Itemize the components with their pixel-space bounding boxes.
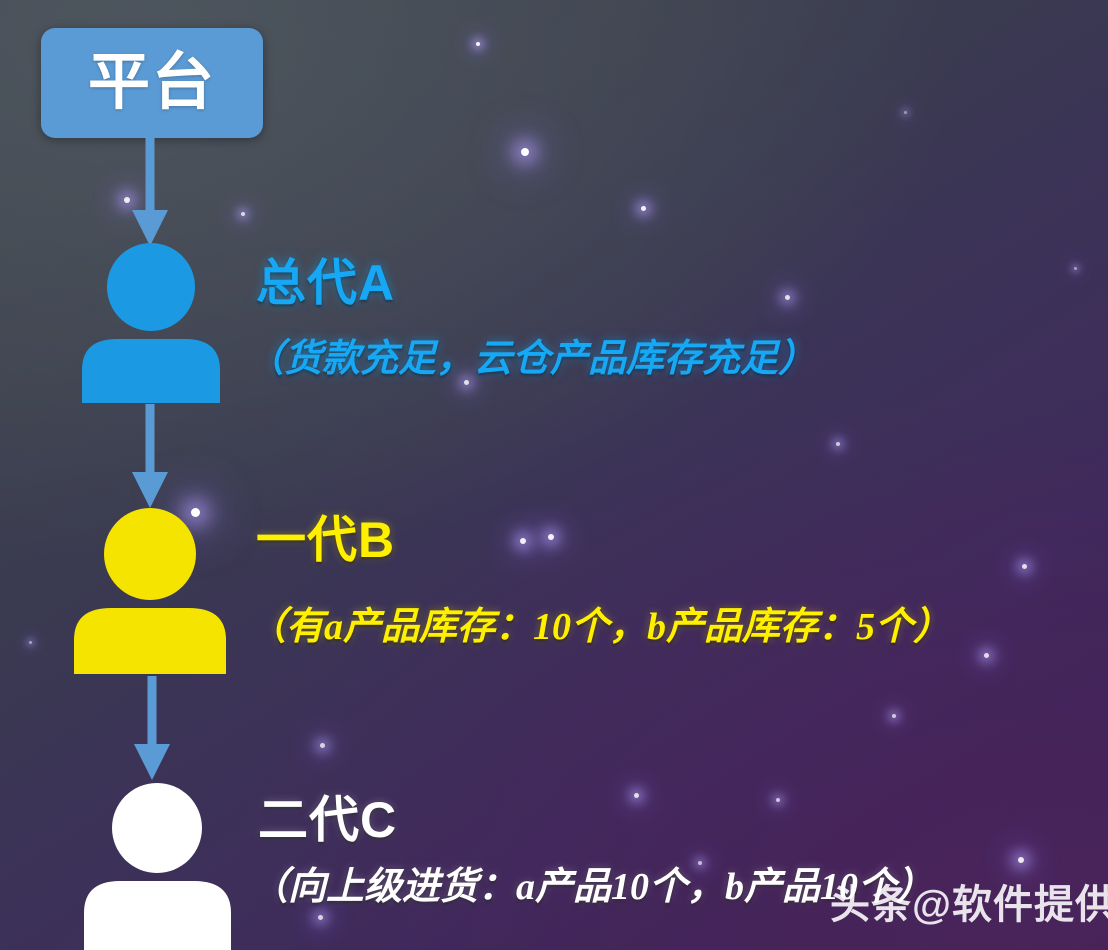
star-dot — [698, 861, 702, 865]
star-dot — [1018, 857, 1024, 863]
node-detail-agent-c: （向上级进货：a产品10个，b产品10个） — [250, 868, 934, 906]
star-dot — [892, 714, 896, 718]
node-detail-agent-a: （货款充足，云仓产品库存充足） — [246, 340, 816, 378]
star-dot — [1022, 564, 1027, 569]
star-dot — [776, 798, 780, 802]
star-dot — [241, 212, 245, 216]
node-detail-agent-b: （有a产品库存：10个，b产品库存：5个） — [248, 608, 951, 646]
platform-box[interactable]: 平台 — [41, 28, 263, 138]
star-dot — [641, 206, 646, 211]
diagram-canvas: 平台 总代A （货款充足，云仓产品库存充足） 一代B （有a产品库存：10个，b… — [0, 0, 1108, 950]
star-dot — [548, 534, 554, 540]
star-dot — [904, 111, 907, 114]
platform-label: 平台 — [88, 52, 216, 114]
node-title-agent-b: 一代B — [256, 515, 395, 565]
star-dot — [318, 915, 323, 920]
arrow-platform-to-a — [124, 136, 176, 248]
node-title-agent-c: 二代C — [258, 795, 397, 845]
arrow-b-to-c — [126, 676, 178, 782]
star-dot — [464, 380, 469, 385]
arrow-a-to-b — [124, 404, 176, 510]
node-title-agent-a: 总代A — [256, 258, 395, 308]
star-dot — [984, 653, 989, 658]
star-dot — [634, 793, 639, 798]
person-icon-agent-b[interactable] — [68, 508, 232, 674]
star-dot — [320, 743, 325, 748]
star-dot — [476, 42, 480, 46]
star-dot — [785, 295, 790, 300]
person-icon-agent-a[interactable] — [76, 243, 226, 403]
star-dot — [1074, 267, 1077, 270]
star-dot — [520, 538, 526, 544]
star-dot — [29, 641, 32, 644]
person-icon-agent-c[interactable] — [79, 783, 236, 950]
star-dot — [521, 148, 529, 156]
star-dot — [836, 442, 840, 446]
